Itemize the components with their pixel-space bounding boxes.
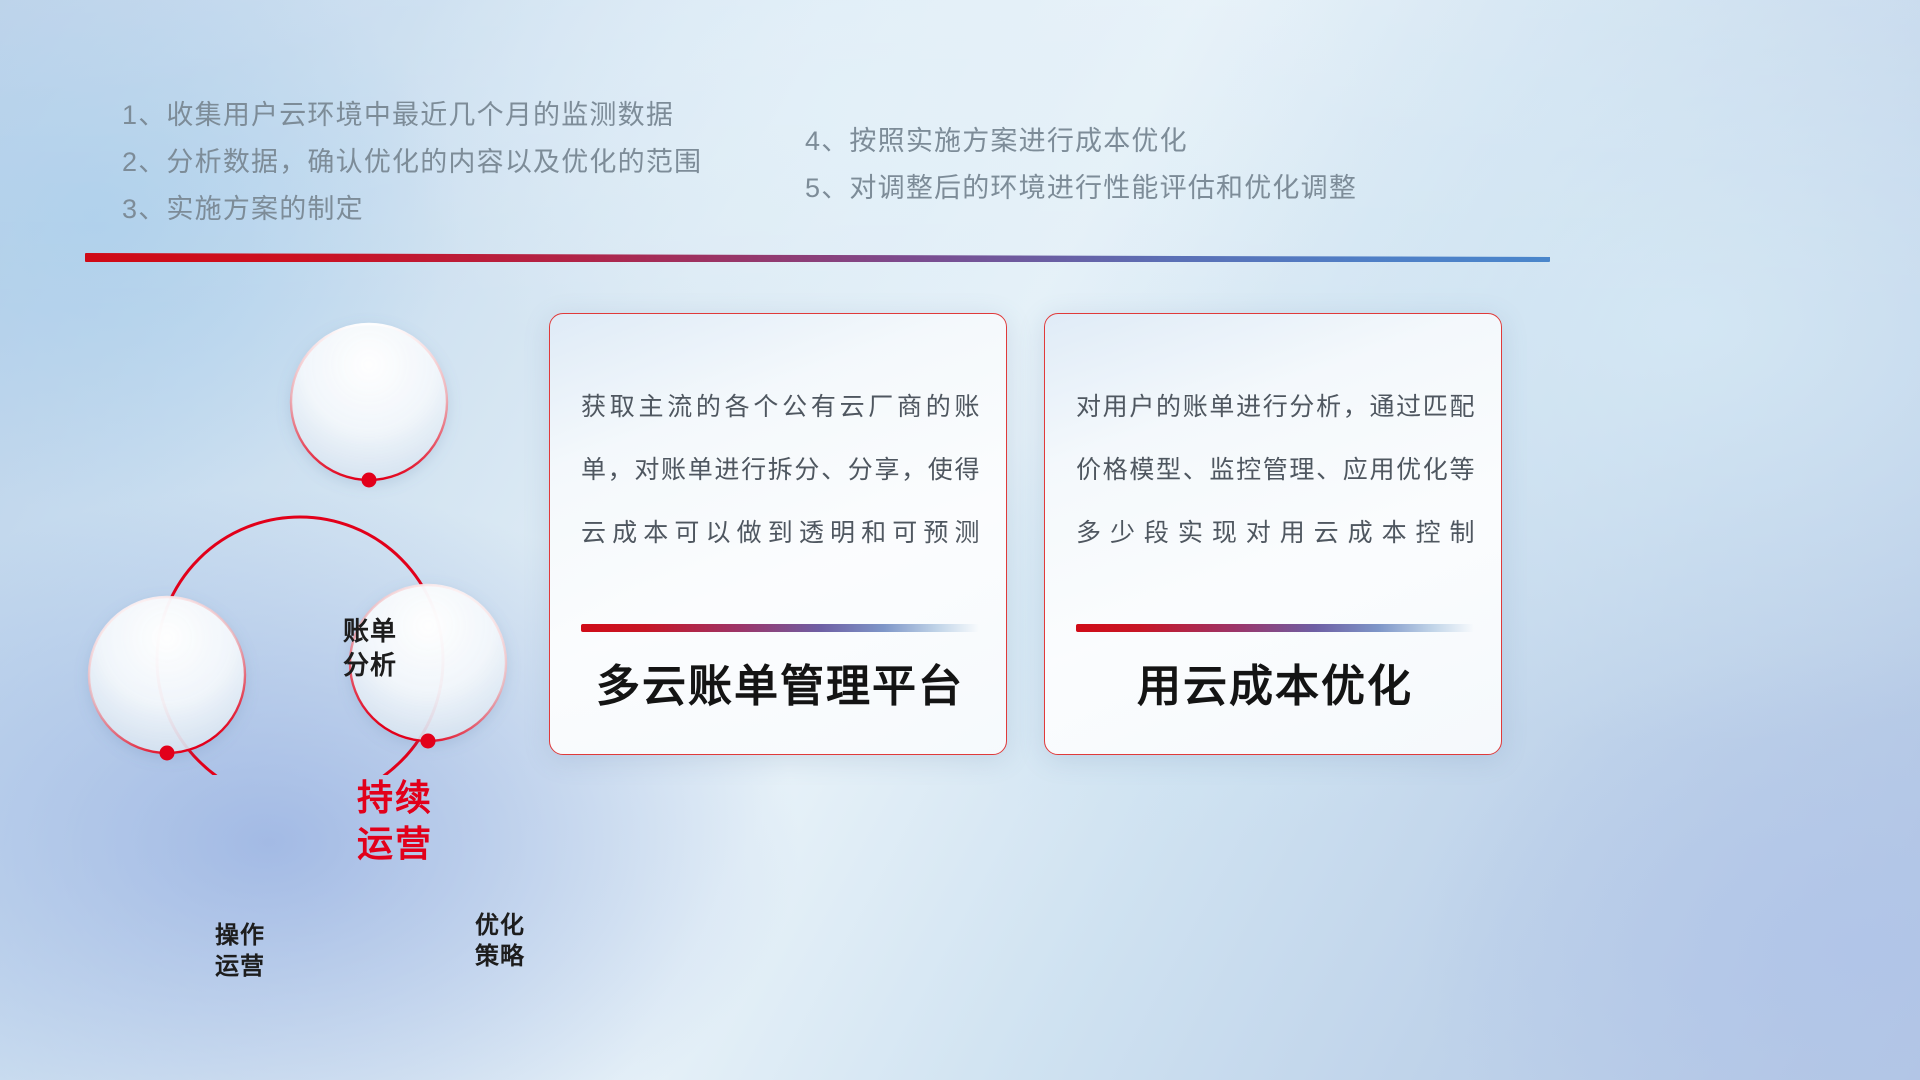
gradient-divider bbox=[85, 253, 1550, 262]
venn-diagram: 账单 分析 操作 运营 优化 策略 持续 运营 bbox=[70, 285, 540, 775]
card-title: 多云账单管理平台 bbox=[581, 650, 979, 714]
card-inner: 对用户的账单进行分析，通过匹配价格模型、监控管理、应用优化等多少段实现对用云成本… bbox=[1045, 314, 1501, 754]
venn-white-circle-bottom-left bbox=[89, 597, 245, 753]
info-card-multi-cloud-billing-platform[interactable]: 获取主流的各个公有云厂商的账单，对账单进行拆分、分享，使得云成本可以做到透明和可… bbox=[549, 313, 1007, 755]
step-item: 2、分析数据，确认优化的内容以及优化的范围 bbox=[122, 139, 702, 186]
venn-junction-dot-top bbox=[362, 473, 377, 488]
info-card-cloud-cost-optimization[interactable]: 对用户的账单进行分析，通过匹配价格模型、监控管理、应用优化等多少段实现对用云成本… bbox=[1044, 313, 1502, 755]
step-item: 5、对调整后的环境进行性能评估和优化调整 bbox=[805, 165, 1357, 212]
venn-diagram-svg bbox=[70, 285, 540, 775]
steps-right-column: 4、按照实施方案进行成本优化 5、对调整后的环境进行性能评估和优化调整 bbox=[805, 118, 1357, 212]
card-inner: 获取主流的各个公有云厂商的账单，对账单进行拆分、分享，使得云成本可以做到透明和可… bbox=[550, 314, 1006, 754]
venn-junction-dot-bottom-left bbox=[160, 746, 175, 761]
card-accent-bar bbox=[1076, 624, 1474, 632]
venn-white-circle-bottom-right bbox=[350, 585, 506, 741]
card-accent-bar bbox=[581, 624, 979, 632]
step-item: 3、实施方案的制定 bbox=[122, 186, 702, 233]
card-title: 用云成本优化 bbox=[1076, 650, 1474, 714]
step-item: 1、收集用户云环境中最近几个月的监测数据 bbox=[122, 92, 702, 139]
step-item: 4、按照实施方案进行成本优化 bbox=[805, 118, 1357, 165]
venn-white-circle-top bbox=[291, 324, 447, 480]
steps-left-column: 1、收集用户云环境中最近几个月的监测数据 2、分析数据，确认优化的内容以及优化的… bbox=[122, 92, 702, 233]
gradient-divider-bar bbox=[85, 253, 1550, 262]
venn-junction-dot-bottom-right bbox=[421, 734, 436, 749]
card-body-text: 对用户的账单进行分析，通过匹配价格模型、监控管理、应用优化等多少段实现对用云成本… bbox=[1076, 376, 1475, 565]
card-body-text: 获取主流的各个公有云厂商的账单，对账单进行拆分、分享，使得云成本可以做到透明和可… bbox=[581, 376, 980, 565]
